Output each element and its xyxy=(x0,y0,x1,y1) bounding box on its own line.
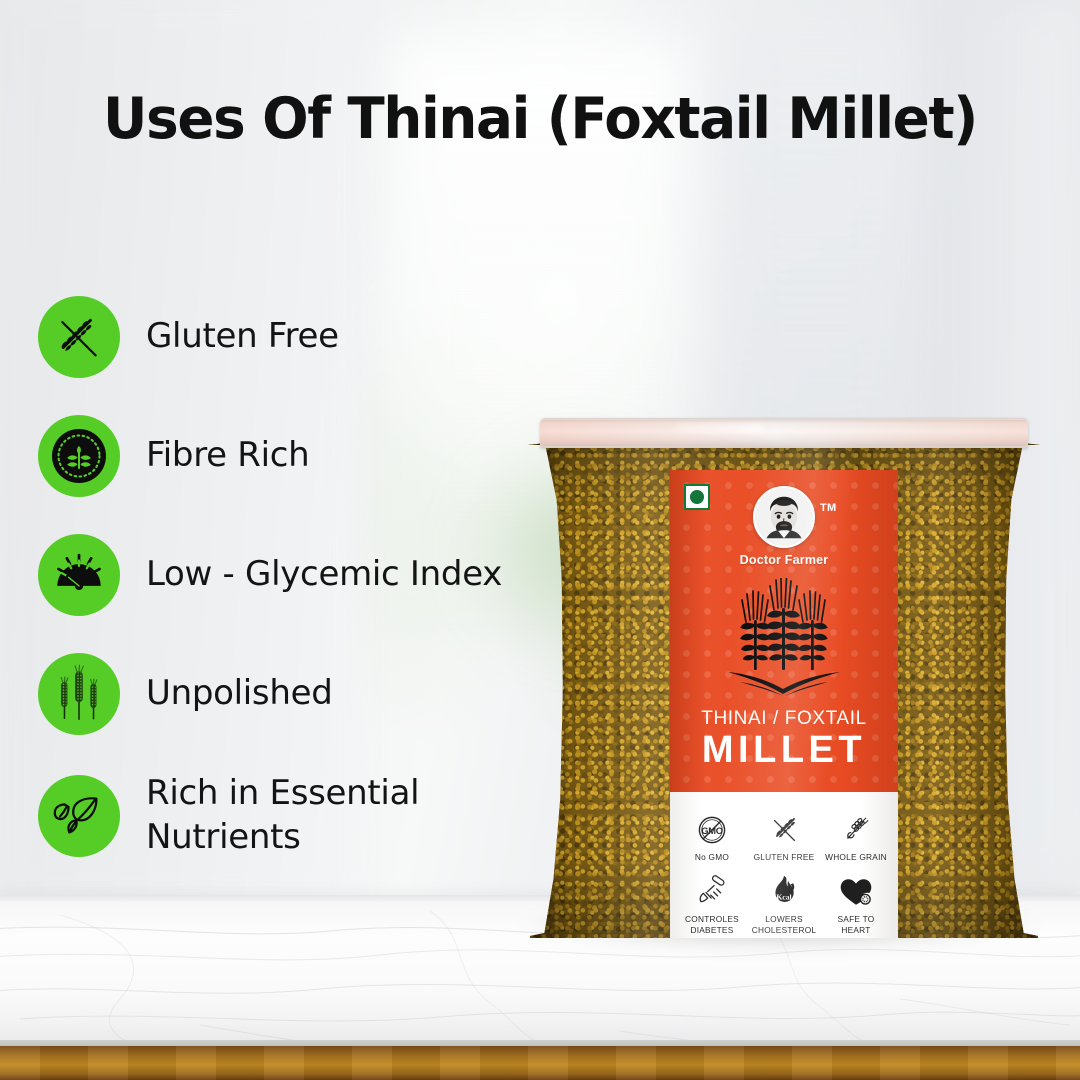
crossed-wheat-icon xyxy=(748,810,820,850)
feature-icon-badge xyxy=(38,775,120,857)
badge-label: WHOLE GRAIN xyxy=(820,852,892,862)
list-item-label: Gluten Free xyxy=(146,315,339,359)
wheat-stalk-icon xyxy=(820,810,892,850)
farmer-face-illustration xyxy=(755,488,813,546)
badge-label: GLUTEN FREE xyxy=(748,852,820,862)
gauge-icon xyxy=(50,546,108,604)
leaves-icon xyxy=(48,785,110,847)
millet-spikes-icon xyxy=(48,663,110,725)
list-item[interactable]: Low - Glycemic Index xyxy=(38,534,508,616)
no-gmo-icon: GMO xyxy=(676,810,748,850)
product-label: TM Doctor Farmer xyxy=(670,470,898,938)
brand-block: TM Doctor Farmer xyxy=(670,486,898,567)
product-subtitle: THINAI / FOXTAIL xyxy=(670,708,898,730)
infographic-canvas: Uses Of Thinai (Foxtail Millet) xyxy=(0,0,1080,1080)
heart-icon xyxy=(820,872,892,912)
certification-badges: GMO No GMO xyxy=(670,806,898,935)
badge-safe-to-heart: SAFE TO HEART xyxy=(820,872,892,935)
badge-label: SAFE TO HEART xyxy=(820,914,892,935)
feature-icon-badge xyxy=(38,415,120,497)
list-item[interactable]: Rich in Essential Nutrients xyxy=(38,772,508,859)
list-item[interactable]: Unpolished xyxy=(38,653,508,735)
badge-no-gmo: GMO No GMO xyxy=(676,810,748,862)
glucose-test-icon xyxy=(676,872,748,912)
wood-floor-strip xyxy=(0,1046,1080,1080)
package-top-seal-tint xyxy=(540,420,1028,446)
feature-icon-badge xyxy=(38,534,120,616)
features-list: Gluten Free Fibre Rich xyxy=(38,296,508,896)
list-item-label: Low - Glycemic Index xyxy=(146,553,502,597)
badge-whole-grain: WHOLE GRAIN xyxy=(820,810,892,862)
product-name-block: THINAI / FOXTAIL MILLET xyxy=(670,708,898,771)
pouch-body: TM Doctor Farmer xyxy=(528,440,1040,938)
wheat-stalks-field-logo xyxy=(670,578,898,701)
page-title: Uses Of Thinai (Foxtail Millet) xyxy=(22,86,1059,152)
badge-gluten-free: GLUTEN FREE xyxy=(748,810,820,862)
badge-lowers-cholesterol: Kcal LOWERS CHOLESTEROL xyxy=(748,872,820,935)
wheat-logo-graphic xyxy=(718,578,850,696)
svg-text:Kcal: Kcal xyxy=(776,893,791,902)
trademark-symbol: TM xyxy=(820,502,836,514)
feature-icon-badge xyxy=(38,653,120,735)
crossed-wheat-icon xyxy=(51,309,107,365)
badge-label: CONTROLES DIABETES xyxy=(676,914,748,935)
product-title: MILLET xyxy=(670,731,898,771)
badge-controles-diabetes: CONTROLES DIABETES xyxy=(676,872,748,935)
list-item-label: Rich in Essential Nutrients xyxy=(146,772,419,859)
flame-kcal-icon: Kcal xyxy=(748,872,820,912)
farmer-portrait-icon xyxy=(753,486,815,548)
list-item-label: Fibre Rich xyxy=(146,434,309,478)
list-item[interactable]: Gluten Free xyxy=(38,296,508,378)
list-item-label: Unpolished xyxy=(146,672,332,716)
badge-label: No GMO xyxy=(676,852,748,862)
plant-sprig-seal-icon xyxy=(47,424,111,488)
feature-icon-badge xyxy=(38,296,120,378)
product-package[interactable]: TM Doctor Farmer xyxy=(528,418,1040,938)
brand-name: Doctor Farmer xyxy=(670,553,898,567)
badge-label: LOWERS CHOLESTEROL xyxy=(748,914,820,935)
list-item[interactable]: Fibre Rich xyxy=(38,415,508,497)
